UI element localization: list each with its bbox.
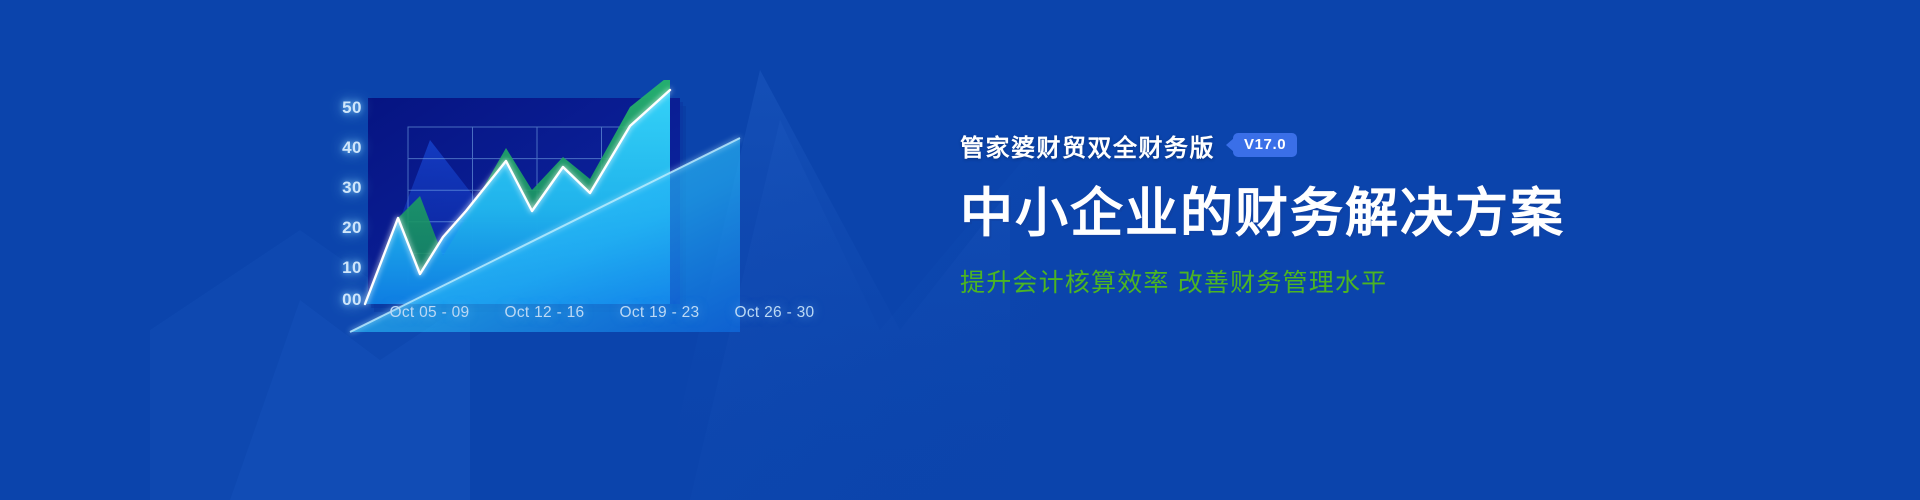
y-tick-10: 10: [310, 258, 362, 278]
y-tick-00: 00: [310, 290, 362, 310]
chart-canvas: [310, 80, 930, 410]
y-tick-40: 40: [310, 138, 362, 158]
x-tick-2: Oct 19 - 23: [602, 304, 717, 322]
finance-chart: 50 40 30 20 10 00 Oct 05 - 09 Oct 12 - 1…: [310, 80, 930, 410]
promo-text-block: 管家婆财贸双全财务版 V17.0 中小企业的财务解决方案 提升会计核算效率 改善…: [960, 128, 1720, 299]
version-badge-wrap: V17.0: [1233, 133, 1297, 157]
x-tick-3: Oct 26 - 30: [717, 304, 832, 322]
y-tick-30: 30: [310, 178, 362, 198]
subtitle: 提升会计核算效率 改善财务管理水平: [960, 263, 1720, 299]
y-axis: 50 40 30 20 10 00: [310, 80, 362, 380]
x-tick-0: Oct 05 - 09: [372, 304, 487, 322]
y-tick-50: 50: [310, 98, 362, 118]
brand-name: 管家婆财贸双全财务版: [960, 128, 1215, 163]
promo-banner: 50 40 30 20 10 00 Oct 05 - 09 Oct 12 - 1…: [0, 0, 1920, 500]
x-tick-1: Oct 12 - 16: [487, 304, 602, 322]
page-title: 中小企业的财务解决方案: [960, 184, 1720, 245]
y-tick-20: 20: [310, 218, 362, 238]
x-axis: Oct 05 - 09 Oct 12 - 16 Oct 19 - 23 Oct …: [372, 304, 832, 322]
brand-row: 管家婆财贸双全财务版 V17.0: [960, 128, 1720, 162]
version-badge: V17.0: [1233, 133, 1297, 157]
